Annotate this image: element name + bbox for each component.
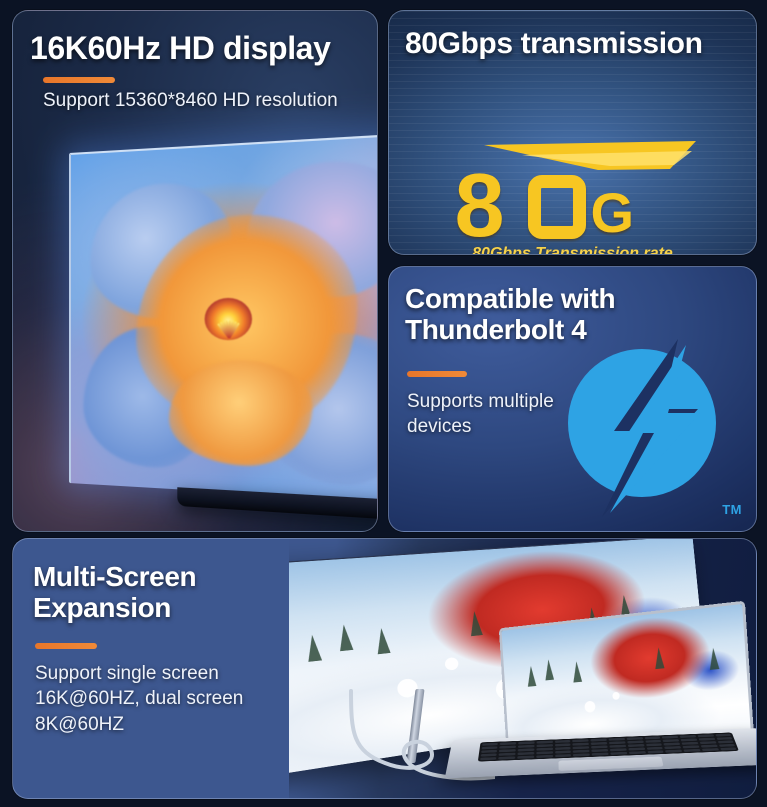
logo-digit-0 xyxy=(528,175,586,239)
accent-rule xyxy=(43,77,115,83)
laptop-keyboard[interactable] xyxy=(477,733,739,762)
laptop-trackpad[interactable] xyxy=(558,757,663,771)
subtitle-thunderbolt: Supports multiple devices xyxy=(407,389,587,439)
tv-screen-flower-image xyxy=(69,132,378,504)
multi-screen-scene xyxy=(289,539,756,798)
logo-80g: 8 G 80Gbps Transmission rate xyxy=(433,139,713,253)
subtitle-hd-display: Support 15360*8460 HD resolution xyxy=(43,90,338,112)
panel-hd-display: 16K60Hz HD display Support 15360*8460 HD… xyxy=(12,10,378,532)
panel-multi-screen: Multi-Screen Expansion Support single sc… xyxy=(12,538,757,799)
page-title-thunderbolt: Compatible with Thunderbolt 4 xyxy=(405,283,615,346)
multi-title-line-2: Expansion xyxy=(33,592,196,623)
flower-stamen xyxy=(205,298,252,341)
logo-80g-glyphs: 8 G 80Gbps Transmission rate xyxy=(433,167,713,253)
display-panel-header: 16K60Hz HD display Support 15360*8460 HD… xyxy=(13,11,377,111)
logo-letter-g: G xyxy=(591,185,635,241)
thunderbolt-title-line-1: Compatible with xyxy=(405,283,615,314)
accent-rule xyxy=(407,371,467,377)
multi-title-line-1: Multi-Screen xyxy=(33,561,196,592)
thunderbolt-title-line-2: Thunderbolt 4 xyxy=(405,314,615,345)
product-feature-collage: 16K60Hz HD display Support 15360*8460 HD… xyxy=(0,0,767,807)
laptop-device xyxy=(454,600,756,796)
tv-device xyxy=(69,132,378,504)
trademark-symbol: TM xyxy=(722,502,742,517)
panel-transmission-speed: 80Gbps transmission 8 G 80Gbps Transmiss… xyxy=(388,10,757,255)
logo-digit-8: 8 xyxy=(455,161,505,251)
logo-caption-transmission-rate: 80Gbps Transmission rate xyxy=(433,245,713,255)
panel-thunderbolt: TM Compatible with Thunderbolt 4 Support… xyxy=(388,266,757,532)
page-title-transmission: 80Gbps transmission xyxy=(405,29,703,59)
page-title-hd-display: 16K60Hz HD display xyxy=(30,32,330,64)
accent-rule xyxy=(35,643,97,649)
laptop-base xyxy=(445,728,756,778)
subtitle-multi-screen: Support single screen 16K@60HZ, dual scr… xyxy=(35,661,295,737)
page-title-multi-screen: Multi-Screen Expansion xyxy=(33,561,196,624)
